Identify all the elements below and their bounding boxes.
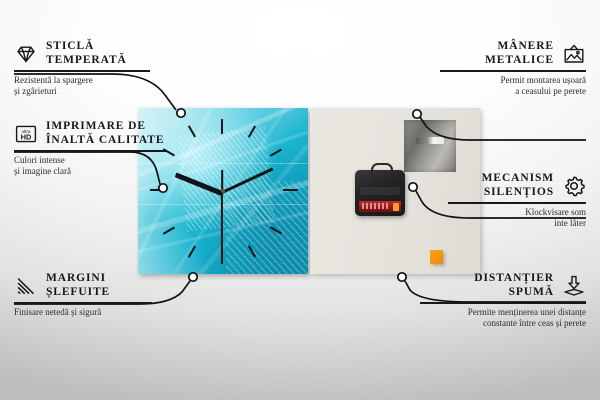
callout-subtitle-line2: a ceasului pe perete [440, 86, 586, 98]
callout-title-line2: TEMPERATĂ [46, 54, 127, 68]
callout-subtitle-line1: Permite menținerea unei distanțe [420, 307, 586, 319]
callout-header: MÂNERE METALICE [440, 40, 586, 67]
callout-subtitle: Finisare netedă și sigură [14, 307, 152, 319]
callout-divider [420, 302, 586, 303]
callout-subtitle-line2: și zgârieturi [14, 86, 150, 98]
callout-title-line2: SILENȚIOS [482, 186, 554, 200]
callout-subtitle-line1: Rezistentă la spargere [14, 75, 150, 87]
diamond-icon [14, 42, 38, 66]
hour-tick [283, 189, 298, 191]
callout-divider [14, 70, 150, 71]
callout-subtitle: Permit montarea ușoară a ceasului pe per… [440, 75, 586, 98]
callout-subtitle: Permite menținerea unei distanțe constan… [420, 307, 586, 330]
callout-margini-slefuite: MARGINI ȘLEFUITE Finisare netedă și sigu… [14, 272, 152, 318]
callout-title-line1: STICLĂ [46, 40, 127, 54]
callout-subtitle-line2: constante între ceas și perete [420, 318, 586, 330]
mechanism-seam [360, 187, 400, 195]
callout-title: MECANISM SILENȚIOS [482, 172, 554, 199]
foam-spacer [430, 250, 443, 264]
svg-text:HD: HD [21, 132, 32, 141]
callout-title-line2: ÎNALTĂ CALITATE [46, 134, 164, 148]
leader-anchor-margini-slefuite [189, 273, 197, 281]
product-photo [138, 108, 480, 274]
callout-title-line1: MECANISM [482, 172, 554, 186]
callout-mecanism-silentios: MECANISM SILENȚIOS Klockvisare som inte … [448, 172, 586, 230]
polished-edges-icon [14, 274, 38, 298]
callout-title: STICLĂ TEMPERATĂ [46, 40, 127, 67]
second-hand [221, 192, 223, 254]
wall-mount-picture-icon [562, 42, 586, 66]
callout-divider [14, 150, 166, 151]
callout-header: MECANISM SILENȚIOS [448, 172, 586, 199]
hour-tick [150, 189, 164, 191]
callout-title-line1: IMPRIMARE DE [46, 120, 164, 134]
callout-header: ultra HD IMPRIMARE DE ÎNALTĂ CALITATE [14, 120, 166, 147]
callout-header: STICLĂ TEMPERATĂ [14, 40, 150, 67]
infographic-canvas: STICLĂ TEMPERATĂ Rezistentă la spargere … [0, 0, 600, 400]
callout-title-line1: MÂNERE [485, 40, 554, 54]
callout-title: IMPRIMARE DE ÎNALTĂ CALITATE [46, 120, 164, 147]
metal-hanger-plate [404, 120, 456, 172]
callout-title-line1: DISTANȚIER [474, 272, 554, 286]
leader-anchor-distantier-spuma [398, 273, 406, 281]
callout-imprimare-hd: ultra HD IMPRIMARE DE ÎNALTĂ CALITATE Cu… [14, 120, 166, 178]
battery-positive-tip [393, 203, 399, 211]
callout-subtitle: Culori intense și imagine clară [14, 155, 166, 178]
callout-sticla-temperata: STICLĂ TEMPERATĂ Rezistentă la spargere … [14, 40, 150, 98]
hanger-slot [416, 137, 444, 144]
foam-spacer-arrow-icon [562, 274, 586, 298]
callout-distantier-spuma: DISTANȚIER SPUMĂ Permite menținerea unei… [420, 272, 586, 330]
aa-battery [359, 201, 401, 212]
quartz-mechanism [355, 170, 405, 216]
callout-title-line2: ȘLEFUITE [46, 286, 110, 300]
callout-title-line2: METALICE [485, 54, 554, 68]
callout-subtitle: Klockvisare som inte låter [448, 207, 586, 230]
callout-title: MÂNERE METALICE [485, 40, 554, 67]
callout-header: MARGINI ȘLEFUITE [14, 272, 152, 299]
callout-title-line1: MARGINI [46, 272, 110, 286]
clock-center-cap [221, 189, 225, 193]
callout-divider [448, 202, 586, 203]
callout-subtitle-line1: Finisare netedă și sigură [14, 307, 152, 319]
glass-seam [138, 204, 308, 205]
hour-tick [221, 119, 223, 134]
hour-tick [163, 227, 175, 235]
callout-subtitle-line1: Klockvisare som [448, 207, 586, 219]
gear-icon [562, 174, 586, 198]
callout-title-line2: SPUMĂ [474, 286, 554, 300]
battery-label [362, 203, 388, 209]
callout-title: MARGINI ȘLEFUITE [46, 272, 110, 299]
callout-subtitle: Rezistentă la spargere și zgârieturi [14, 75, 150, 98]
callout-subtitle-line1: Culori intense [14, 155, 166, 167]
callout-title: DISTANȚIER SPUMĂ [474, 272, 554, 299]
ultra-hd-icon: ultra HD [14, 122, 38, 146]
callout-divider [14, 302, 152, 303]
callout-header: DISTANȚIER SPUMĂ [420, 272, 586, 299]
mechanism-hanging-loop [371, 163, 393, 177]
feather-plume [226, 181, 308, 274]
callout-divider [440, 70, 586, 71]
callout-subtitle-line2: inte låter [448, 218, 586, 230]
callout-subtitle-line1: Permit montarea ușoară [440, 75, 586, 87]
hour-tick [270, 149, 282, 157]
callout-manere-metalice: MÂNERE METALICE Permit montarea ușoară a… [440, 40, 586, 98]
callout-subtitle-line2: și imagine clară [14, 166, 166, 178]
